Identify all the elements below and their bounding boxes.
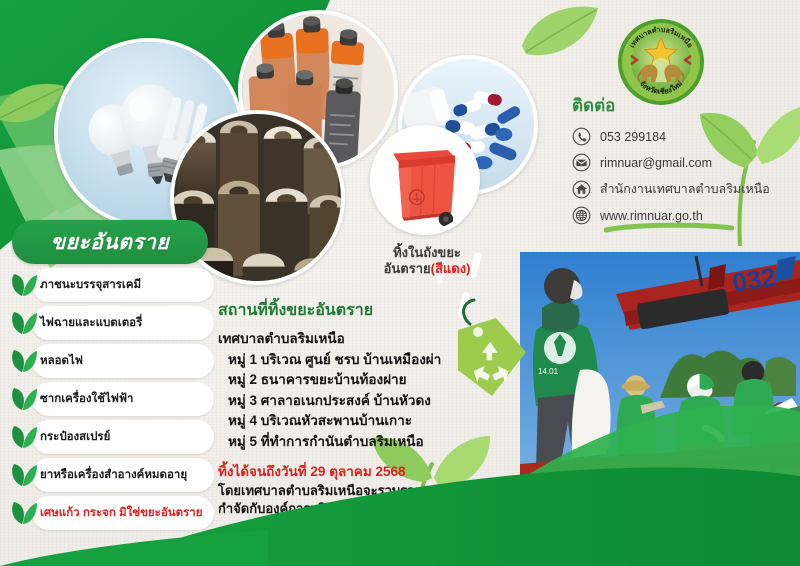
list-item-label: ยาหรือเครื่องสำอางค์หมดอายุ [40, 466, 187, 484]
waste-collection-photo: 032 14.01 [520, 252, 800, 532]
leaf-bullet-icon [8, 386, 38, 412]
list-item-label: กระป๋องสเปรย์ [40, 428, 110, 446]
section-banner-hazardous-waste: ขยะอันตราย [12, 220, 208, 264]
contact-email-value: rimnuar@gmail.com [600, 156, 712, 170]
leaf-bullet-icon [8, 272, 38, 298]
svg-text:14.01: 14.01 [538, 367, 559, 376]
leaf-bullet-icon [8, 348, 38, 374]
phone-icon [572, 127, 591, 146]
drop-off-location: หมู่ 1 บริเวณ ศูนย์ ชรบ บ้านเหมืองผ่า [218, 350, 518, 371]
leaf-bullet-icon [8, 424, 38, 450]
drop-off-location: หมู่ 5 ที่ทำการกำนันตำบลริมเหนือ [218, 432, 518, 453]
envelope-icon [572, 153, 591, 172]
drop-off-heading: สถานที่ทิ้งขยะอันตราย [218, 298, 518, 323]
bin-caption-color-note: (สีแดง) [431, 261, 471, 276]
bin-caption-line2: อันตราย(สีแดง) [352, 261, 502, 277]
contact-section: ติดต่อ 053 299184 rimnuar@gmail.com สำนั [572, 92, 797, 232]
contact-heading: ติดต่อ [572, 92, 797, 119]
leaf-bullet-icon [8, 500, 38, 526]
drop-off-location: หมู่ 4 บริเวณหัวสะพานบ้านเกาะ [218, 411, 518, 432]
list-item[interactable]: หลอดไฟ [8, 344, 214, 378]
list-item-label: หลอดไฟ [40, 352, 83, 370]
list-item-label: ซากเครื่องใช้ไฟฟ้า [40, 390, 134, 408]
drop-off-subject: เทศบาลตำบลริมเหนือ [218, 329, 518, 350]
list-item-label: เศษแก้ว กระจก มิใช่ขยะอันตราย [40, 504, 202, 522]
globe-icon [572, 206, 591, 225]
list-item-warning[interactable]: เศษแก้ว กระจก มิใช่ขยะอันตราย [8, 496, 214, 530]
contact-website-value: www.rimnuar.go.th [600, 209, 703, 223]
list-item-label: ภาชนะบรรจุสารเคมี [40, 276, 141, 294]
contact-phone-value: 053 299184 [600, 130, 666, 144]
bin-caption-line2-prefix: อันตราย [384, 261, 431, 276]
hazardous-waste-list: ภาชนะบรรจุสารเคมี ไฟฉายและแบตเตอรี่ หลอด… [8, 268, 214, 534]
contact-row-email[interactable]: rimnuar@gmail.com [572, 153, 797, 172]
drop-off-location: หมู่ 3 ศาลาอเนกประสงค์ บ้านหัวดง [218, 391, 518, 412]
leaf-bullet-icon [8, 462, 38, 488]
list-item[interactable]: ซากเครื่องใช้ไฟฟ้า [8, 382, 214, 416]
poster-root: 032 14.01 [0, 0, 800, 566]
home-icon [572, 180, 591, 199]
contact-row-website[interactable]: www.rimnuar.go.th [572, 206, 797, 225]
drop-off-location: หมู่ 2 ธนาคารขยะบ้านท้องฝาย [218, 370, 518, 391]
drop-off-section: สถานที่ทิ้งขยะอันตราย เทศบาลตำบลริมเหนือ… [218, 298, 518, 518]
contact-row-office[interactable]: สำนักงานเทศบาลตำบลริมเหนือ [572, 179, 797, 199]
list-item-label: ไฟฉายและแบตเตอรี่ [40, 314, 142, 332]
note-line-1: โดยเทศบาลตำบลริมเหนือจะรวบรวมและส่งไป [218, 482, 518, 500]
contact-row-phone[interactable]: 053 299184 [572, 127, 797, 146]
note-line-2: กำจัดกับองค์การบริหารส่วนจังหวัดเชียงใหม… [218, 500, 518, 518]
list-item[interactable]: กระป๋องสเปรย์ [8, 420, 214, 454]
list-item[interactable]: ไฟฉายและแบตเตอรี่ [8, 306, 214, 340]
leaf-bullet-icon [8, 310, 38, 336]
leaf-decoration-top-right [518, 0, 608, 74]
red-bin-photo [370, 125, 480, 235]
section-banner-label: ขยะอันตราย [51, 226, 169, 259]
bin-caption-line1: ทิ้งในถังขยะ [352, 245, 502, 261]
deadline-text: ทิ้งได้จนถึงวันที่ 29 ตุลาคม 2568 [218, 460, 518, 482]
list-item[interactable]: ภาชนะบรรจุสารเคมี [8, 268, 214, 302]
list-item[interactable]: ยาหรือเครื่องสำอางค์หมดอายุ [8, 458, 214, 492]
bin-caption: ทิ้งในถังขยะ อันตราย(สีแดง) [352, 245, 502, 278]
contact-office-value: สำนักงานเทศบาลตำบลริมเหนือ [600, 179, 770, 199]
